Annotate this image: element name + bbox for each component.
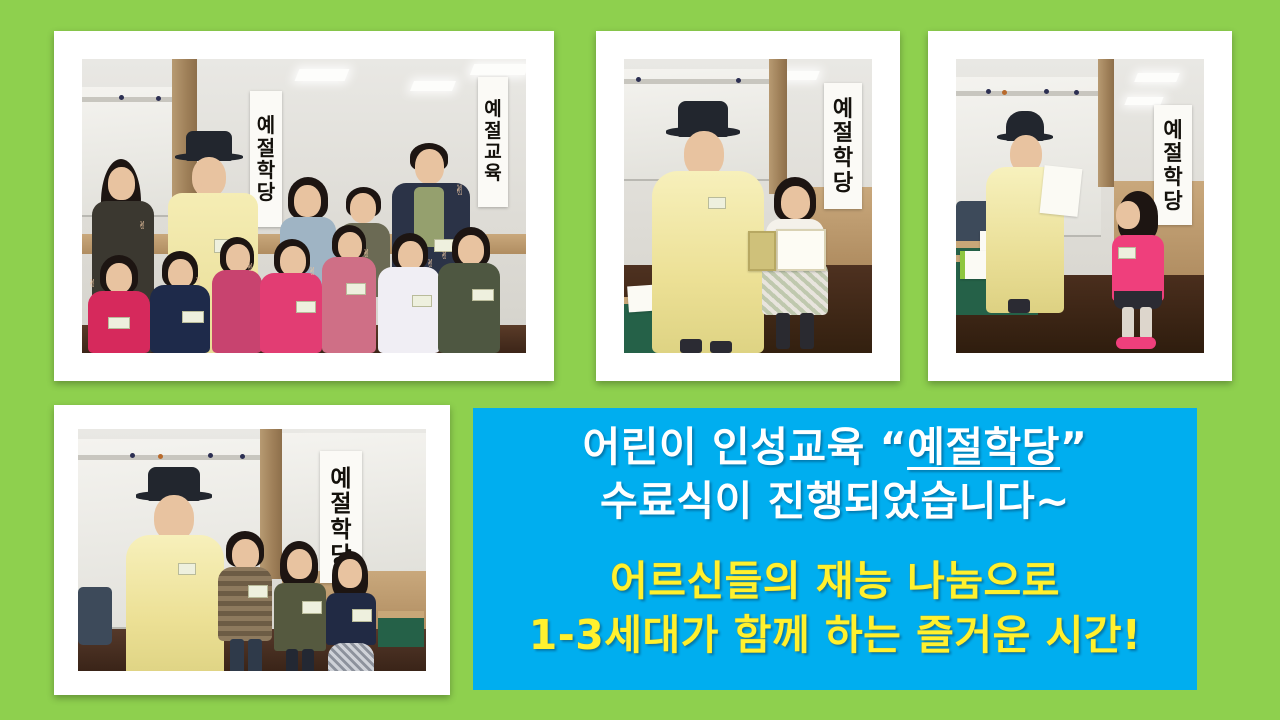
child-5: ✌ [322, 225, 376, 353]
child-4: ✌ [260, 239, 322, 353]
certificate-paper [776, 229, 826, 271]
child-pink-jacket [1112, 191, 1164, 349]
subtext-line-2: 1-3세대가 함께 하는 즐거운 시간! [473, 608, 1197, 662]
child-with-certificate [762, 177, 828, 353]
photo-frame-three-children: 예절학당 [54, 405, 450, 695]
child-girl-olive-jacket [274, 541, 326, 671]
headline-line-1: 어린이 인성교육 “예절학당” [473, 420, 1197, 474]
certificate-held [1040, 165, 1083, 217]
photo-frame-group: 예절학당 예절교육 ✌ ✌ [54, 31, 554, 381]
headline-line-2: 수료식이 진행되었습니다~ [473, 474, 1197, 528]
certificate-envelope [748, 231, 776, 271]
subtext-line-1: 어르신들의 재능 나눔으로 [473, 554, 1197, 608]
photo-frame-certificate: 예절학당 [596, 31, 900, 381]
child-girl-navy [326, 551, 376, 671]
headline-prefix: 어린이 인성교육 “ [583, 423, 908, 471]
photo-three-children: 예절학당 [78, 429, 426, 671]
child-1: ✌ [88, 255, 150, 353]
elder-hanbok [126, 467, 224, 671]
headline-suffix: ” [1060, 423, 1087, 471]
photo-group: 예절학당 예절교육 ✌ ✌ [82, 59, 526, 353]
child-7: ✌ [438, 227, 500, 353]
banner-yejeolgyoyuk: 예절교육 [478, 77, 508, 207]
child-boy-sweater [218, 531, 272, 671]
photo-certificate: 예절학당 [624, 59, 872, 353]
elder-hanbok [652, 101, 764, 351]
photo-reading: 예절학당 [956, 59, 1204, 353]
banner-yejeolhakdang: 예절학당 [824, 83, 862, 209]
child-6: ✌ [378, 233, 440, 353]
program-name: 예절학당 [907, 423, 1060, 471]
child-3: ✌ [212, 237, 262, 353]
elder-reading [986, 111, 1064, 311]
child-2: ✌ [150, 251, 210, 353]
photo-frame-reading: 예절학당 [928, 31, 1232, 381]
announcement-panel: 어린이 인성교육 “예절학당” 수료식이 진행되었습니다~ 어르신들의 재능 나… [473, 408, 1197, 690]
poster-canvas: 예절학당 예절교육 ✌ ✌ [0, 0, 1280, 720]
